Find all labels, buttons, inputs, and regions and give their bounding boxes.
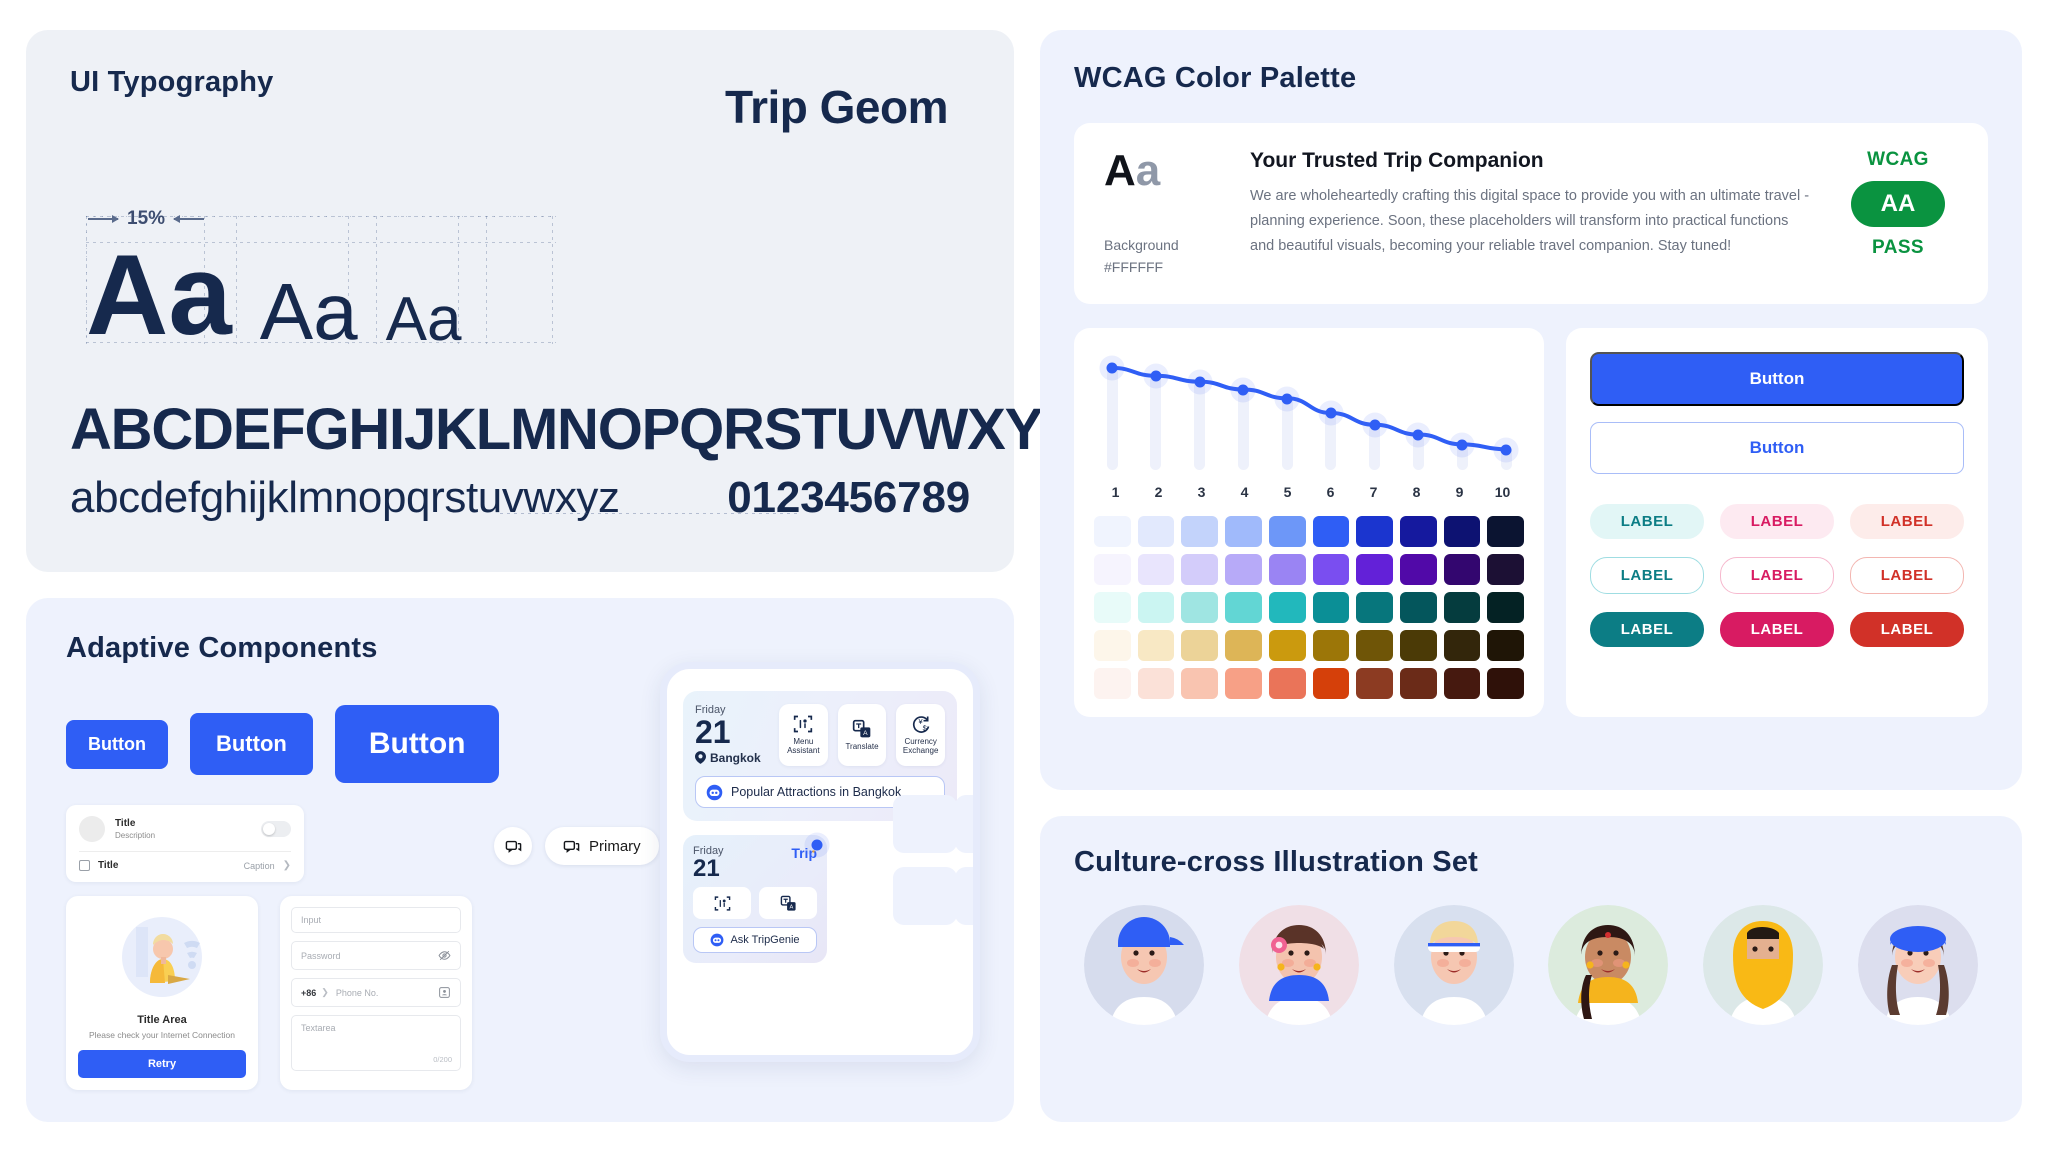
color-swatch[interactable]: [1269, 592, 1306, 623]
specimen-bold: Aa: [86, 242, 232, 350]
widget-placeholder-grid: [893, 795, 957, 925]
trip-widget-small[interactable]: Friday 21 Trip.: [683, 835, 827, 963]
button-medium[interactable]: Button: [190, 713, 313, 775]
page-title: UI Typography: [70, 66, 273, 99]
avatar-sari-woman: [1548, 905, 1668, 1025]
placeholder-tile: [955, 795, 980, 853]
color-swatch[interactable]: [1225, 516, 1262, 547]
input-placeholder: Input: [301, 915, 451, 925]
widget-date: 21: [695, 716, 769, 749]
color-swatch[interactable]: [1400, 630, 1437, 661]
color-swatch[interactable]: [1487, 554, 1524, 585]
color-swatch[interactable]: [1356, 668, 1393, 699]
color-swatch[interactable]: [1313, 592, 1350, 623]
color-swatch[interactable]: [1094, 592, 1131, 623]
illustration-panel: Culture-cross Illustration Set: [1040, 816, 2022, 1122]
chart-x-label: 2: [1137, 484, 1180, 500]
baseline-rule: [500, 513, 800, 514]
avatar-kimono-woman: [1239, 905, 1359, 1025]
chart-x-label: 7: [1352, 484, 1395, 500]
checkbox[interactable]: [79, 860, 90, 871]
chart-x-label: 5: [1266, 484, 1309, 500]
chart-x-label: 10: [1481, 484, 1524, 500]
controls-card: Button Button LABELLABELLABELLABELLABELL…: [1566, 328, 1988, 717]
placeholder-tile: [955, 867, 980, 925]
label-chip-grid: LABELLABELLABELLABELLABELLABELLABELLABEL…: [1590, 504, 1964, 647]
color-swatch[interactable]: [1444, 592, 1481, 623]
specimen-medium: Aa: [260, 274, 358, 350]
color-swatch[interactable]: [1138, 554, 1175, 585]
label-chip-teal-soft[interactable]: LABEL: [1590, 504, 1704, 539]
color-swatch-grid: [1094, 516, 1524, 699]
lowercase-alphabet: abcdefghijklmnopqrstuvwxyz: [70, 473, 620, 523]
translate-icon: A: [780, 895, 797, 912]
color-swatch[interactable]: [1269, 516, 1306, 547]
color-swatch[interactable]: [1181, 592, 1218, 623]
button-small[interactable]: Button: [66, 720, 168, 769]
color-swatch[interactable]: [1444, 668, 1481, 699]
trip-logo: Trip.: [791, 845, 817, 861]
chart-point: [1238, 384, 1249, 395]
svg-text:A: A: [789, 904, 793, 910]
tripgenie-robot-icon: [706, 784, 723, 801]
tile-currency-label: Currency Exchange: [896, 738, 945, 756]
divider: [79, 851, 291, 852]
chart-point: [1150, 371, 1161, 382]
color-swatch[interactable]: [1181, 554, 1218, 585]
specimen-regular: Aa: [386, 291, 462, 350]
tripgenie-robot-icon: [710, 933, 724, 947]
tile-menu-assistant-label: Menu Assistant: [779, 738, 828, 756]
line-chart: [1094, 350, 1524, 470]
digits: 0123456789: [727, 473, 970, 523]
label-chip-teal-outline[interactable]: LABEL: [1590, 557, 1704, 594]
chart-point: [1107, 363, 1118, 374]
empty-state-title: Title Area: [78, 1014, 246, 1026]
message-icon-button[interactable]: [494, 827, 532, 865]
color-swatch[interactable]: [1225, 668, 1262, 699]
color-swatch[interactable]: [1181, 668, 1218, 699]
textarea-placeholder: Textarea: [301, 1023, 451, 1033]
color-swatch[interactable]: [1313, 668, 1350, 699]
color-swatch[interactable]: [1400, 668, 1437, 699]
translate-icon: A: [852, 719, 872, 739]
color-swatch[interactable]: [1487, 592, 1524, 623]
status-badge: WCAG AA PASS: [1838, 149, 1958, 259]
label-chip-pink-solid[interactable]: LABEL: [1720, 612, 1834, 647]
list-row-caption: Caption: [244, 861, 275, 871]
icon-button-group: Primary: [494, 827, 659, 865]
chart-x-axis-labels: 12345678910: [1094, 484, 1524, 500]
message-icon: [563, 838, 580, 855]
password-placeholder: Password: [301, 951, 438, 961]
chart-point: [1501, 444, 1512, 455]
primary-button-label: Primary: [589, 838, 641, 855]
color-swatch[interactable]: [1444, 516, 1481, 547]
small-tile-translate[interactable]: A: [759, 887, 817, 919]
color-swatch[interactable]: [1094, 554, 1131, 585]
label-chip-pink-soft[interactable]: LABEL: [1720, 504, 1834, 539]
avatar: [79, 816, 105, 842]
filled-button[interactable]: Button: [1590, 352, 1964, 406]
chart-point: [1369, 420, 1380, 431]
chart-x-label: 1: [1094, 484, 1137, 500]
chart-point: [1457, 439, 1468, 450]
no-connection-illustration: [78, 910, 246, 1008]
label-chip-red-soft[interactable]: LABEL: [1850, 504, 1964, 539]
input-field[interactable]: Input: [291, 907, 461, 933]
swatch-row: [1094, 554, 1524, 585]
form-card: Input Password +8: [280, 896, 472, 1090]
color-swatch[interactable]: [1400, 516, 1437, 547]
contrast-heading: Your Trusted Trip Companion: [1250, 149, 1812, 173]
label-chip-red-outline[interactable]: LABEL: [1850, 557, 1964, 594]
phone-mockup: Friday 21 Bangkok: [660, 662, 980, 1062]
widget-city-label: Bangkok: [710, 751, 761, 765]
adaptive-components-panel: Adaptive Components Button Button Button…: [26, 598, 1014, 1122]
button-large[interactable]: Button: [335, 705, 500, 783]
small-widget-date: 21: [693, 857, 724, 881]
placeholder-tile: [893, 795, 957, 853]
uppercase-alphabet: ABCDEFGHIJKLMNOPQRSTUVWXYZ: [70, 396, 970, 463]
contrast-paragraph: We are wholeheartedly crafting this digi…: [1250, 184, 1810, 259]
color-swatch[interactable]: [1094, 516, 1131, 547]
chart-x-label: 3: [1180, 484, 1223, 500]
swatch-row: [1094, 516, 1524, 547]
textarea-field[interactable]: Textarea 0/200: [291, 1015, 461, 1071]
list-item-title: Title: [115, 818, 251, 829]
label-row: LABELLABELLABEL: [1590, 612, 1964, 647]
contacts-icon[interactable]: [438, 986, 451, 999]
color-swatch[interactable]: [1400, 554, 1437, 585]
tile-translate-label: Translate: [845, 743, 878, 752]
brand-name: Trip Geom: [725, 80, 948, 134]
chart-line: [1094, 350, 1524, 470]
chart-point: [1194, 377, 1205, 388]
avatar-hijab-woman: [1703, 905, 1823, 1025]
color-swatch[interactable]: [1487, 668, 1524, 699]
empty-state-subtitle: Please check your Internet Connection: [78, 1030, 246, 1040]
widget-search-text: Popular Attractions in Bangkok: [731, 785, 901, 799]
contrast-demo-card: Aa Background #FFFFFF Your Trusted Trip …: [1074, 123, 1988, 304]
tile-currency-exchange[interactable]: ¥ $ Currency Exchange: [896, 704, 945, 766]
empty-state-card: Title Area Please check your Internet Co…: [66, 896, 258, 1090]
color-swatch[interactable]: [1225, 630, 1262, 661]
color-swatch[interactable]: [1138, 516, 1175, 547]
contrast-specimen: Aa: [1104, 149, 1224, 193]
color-swatch[interactable]: [1138, 630, 1175, 661]
swatch-row: [1094, 592, 1524, 623]
label-chip-red-solid[interactable]: LABEL: [1850, 612, 1964, 647]
message-icon: [505, 838, 522, 855]
color-swatch[interactable]: [1269, 630, 1306, 661]
wcag-panel: WCAG Color Palette Aa Background #FFFFFF…: [1040, 30, 2022, 790]
color-swatch[interactable]: [1356, 592, 1393, 623]
color-swatch[interactable]: [1138, 592, 1175, 623]
menu-scan-icon: [714, 895, 731, 912]
menu-scan-icon: [793, 714, 813, 734]
color-swatch[interactable]: [1094, 630, 1131, 661]
widget-city: Bangkok: [695, 751, 769, 765]
avatar-beret-woman: [1858, 905, 1978, 1025]
color-swatch[interactable]: [1313, 630, 1350, 661]
color-swatch[interactable]: [1356, 516, 1393, 547]
color-swatch[interactable]: [1444, 630, 1481, 661]
chevron-right-icon: ❯: [321, 987, 329, 998]
typography-panel: UI Typography Trip Geom 15% Aa Aa Aa ABC…: [26, 30, 1014, 572]
label-row: LABELLABELLABEL: [1590, 557, 1964, 594]
list-card: Title Description Title Caption ❯: [66, 805, 304, 882]
toggle-switch[interactable]: [261, 821, 291, 837]
label-chip-teal-solid[interactable]: LABEL: [1590, 612, 1704, 647]
color-swatch[interactable]: [1356, 630, 1393, 661]
label-row: LABELLABELLABEL: [1590, 504, 1964, 539]
illustration-panel-title: Culture-cross Illustration Set: [1074, 846, 1988, 879]
currency-exchange-icon: ¥ $: [911, 714, 931, 734]
chart-point: [1282, 393, 1293, 404]
list-item-description: Description: [115, 831, 251, 840]
chart-x-label: 6: [1309, 484, 1352, 500]
palette-chart-card: 12345678910: [1074, 328, 1544, 717]
swatch-row: [1094, 630, 1524, 661]
color-swatch[interactable]: [1487, 516, 1524, 547]
chevron-right-icon: ❯: [283, 860, 291, 871]
password-field[interactable]: Password: [291, 941, 461, 970]
adaptive-panel-title: Adaptive Components: [66, 632, 974, 665]
wcag-level-pill: AA: [1851, 181, 1945, 227]
color-swatch[interactable]: [1225, 592, 1262, 623]
ask-tripgenie-button[interactable]: Ask TripGenie: [693, 927, 817, 953]
color-swatch[interactable]: [1094, 668, 1131, 699]
color-swatch[interactable]: [1269, 554, 1306, 585]
background-label: Background: [1104, 235, 1224, 257]
tile-menu-assistant[interactable]: Menu Assistant: [779, 704, 828, 766]
swatch-row: [1094, 668, 1524, 699]
chart-x-label: 4: [1223, 484, 1266, 500]
design-system-board: UI Typography Trip Geom 15% Aa Aa Aa ABC…: [0, 0, 2048, 1152]
color-swatch[interactable]: [1225, 554, 1262, 585]
location-pin-icon: [695, 751, 706, 764]
outlined-button[interactable]: Button: [1590, 422, 1964, 474]
color-swatch[interactable]: [1400, 592, 1437, 623]
ask-tripgenie-label: Ask TripGenie: [730, 934, 799, 946]
small-tile-menu-assistant[interactable]: [693, 887, 751, 919]
wcag-panel-title: WCAG Color Palette: [1074, 62, 1988, 95]
list-row-title: Title: [98, 860, 236, 871]
eye-off-icon[interactable]: [438, 949, 451, 962]
phone-field[interactable]: +86 ❯ Phone No.: [291, 978, 461, 1007]
placeholder-tile: [893, 867, 957, 925]
wcag-label: WCAG: [1838, 149, 1958, 171]
color-swatch[interactable]: [1487, 630, 1524, 661]
avatar-cap-man: [1084, 905, 1204, 1025]
color-swatch[interactable]: [1269, 668, 1306, 699]
color-swatch[interactable]: [1181, 516, 1218, 547]
phone-placeholder: Phone No.: [336, 988, 438, 998]
chart-point: [1325, 408, 1336, 419]
character-counter: 0/200: [433, 1055, 452, 1064]
label-chip-pink-outline[interactable]: LABEL: [1720, 557, 1834, 594]
color-swatch[interactable]: [1181, 630, 1218, 661]
color-swatch[interactable]: [1313, 554, 1350, 585]
country-code: +86: [301, 988, 316, 998]
color-swatch[interactable]: [1444, 554, 1481, 585]
retry-button[interactable]: Retry: [78, 1050, 246, 1078]
color-swatch[interactable]: [1138, 668, 1175, 699]
chart-x-label: 8: [1395, 484, 1438, 500]
wcag-result: PASS: [1838, 237, 1958, 259]
type-specimens: Aa Aa Aa: [86, 230, 970, 350]
tile-translate[interactable]: A Translate: [838, 704, 887, 766]
background-info: Background #FFFFFF: [1104, 235, 1224, 278]
color-swatch[interactable]: [1356, 554, 1393, 585]
svg-text:A: A: [863, 729, 868, 736]
avatar-headband-man: [1394, 905, 1514, 1025]
chart-point: [1413, 429, 1424, 440]
background-value: #FFFFFF: [1104, 257, 1224, 279]
avatar-row: [1074, 905, 1988, 1025]
chart-x-label: 9: [1438, 484, 1481, 500]
primary-pill-button[interactable]: Primary: [545, 827, 659, 865]
color-swatch[interactable]: [1313, 516, 1350, 547]
